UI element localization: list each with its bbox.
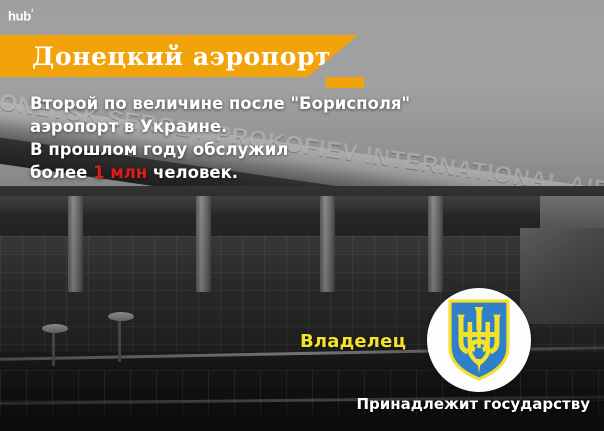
lead-line-4-before: более (30, 163, 93, 182)
ukraine-coat-of-arms-icon (448, 299, 510, 381)
lead-line-4-after: человек. (147, 163, 238, 182)
lead-line-2: аэропорт в Украине. (30, 115, 500, 138)
owner-caption: Принадлежит государству (356, 395, 590, 413)
title-bar-accent-tab (326, 77, 364, 88)
lead-line-1: Второй по величине после "Борисполя" (30, 92, 500, 115)
lead-paragraph: Второй по величине после "Борисполя" аэр… (30, 92, 500, 184)
owner-label: Владелец (300, 331, 406, 352)
infographic-card: DONETSK SERGEY PROKOFIEV INTERNATIONAL A… (0, 0, 604, 431)
hub-logo[interactable]: hub¹ (8, 9, 33, 22)
lead-line-3: В прошлом году обслужил (30, 138, 500, 161)
hub-logo-text: hub (8, 8, 31, 23)
title-bar: Донецкий аэропорт (0, 35, 358, 77)
passenger-count-highlight: 1 млн (93, 163, 147, 182)
page-title: Донецкий аэропорт (32, 42, 331, 71)
hub-logo-superscript: ¹ (31, 7, 33, 16)
lead-line-4: более 1 млн человек. (30, 161, 500, 184)
emblem-badge (427, 288, 531, 392)
